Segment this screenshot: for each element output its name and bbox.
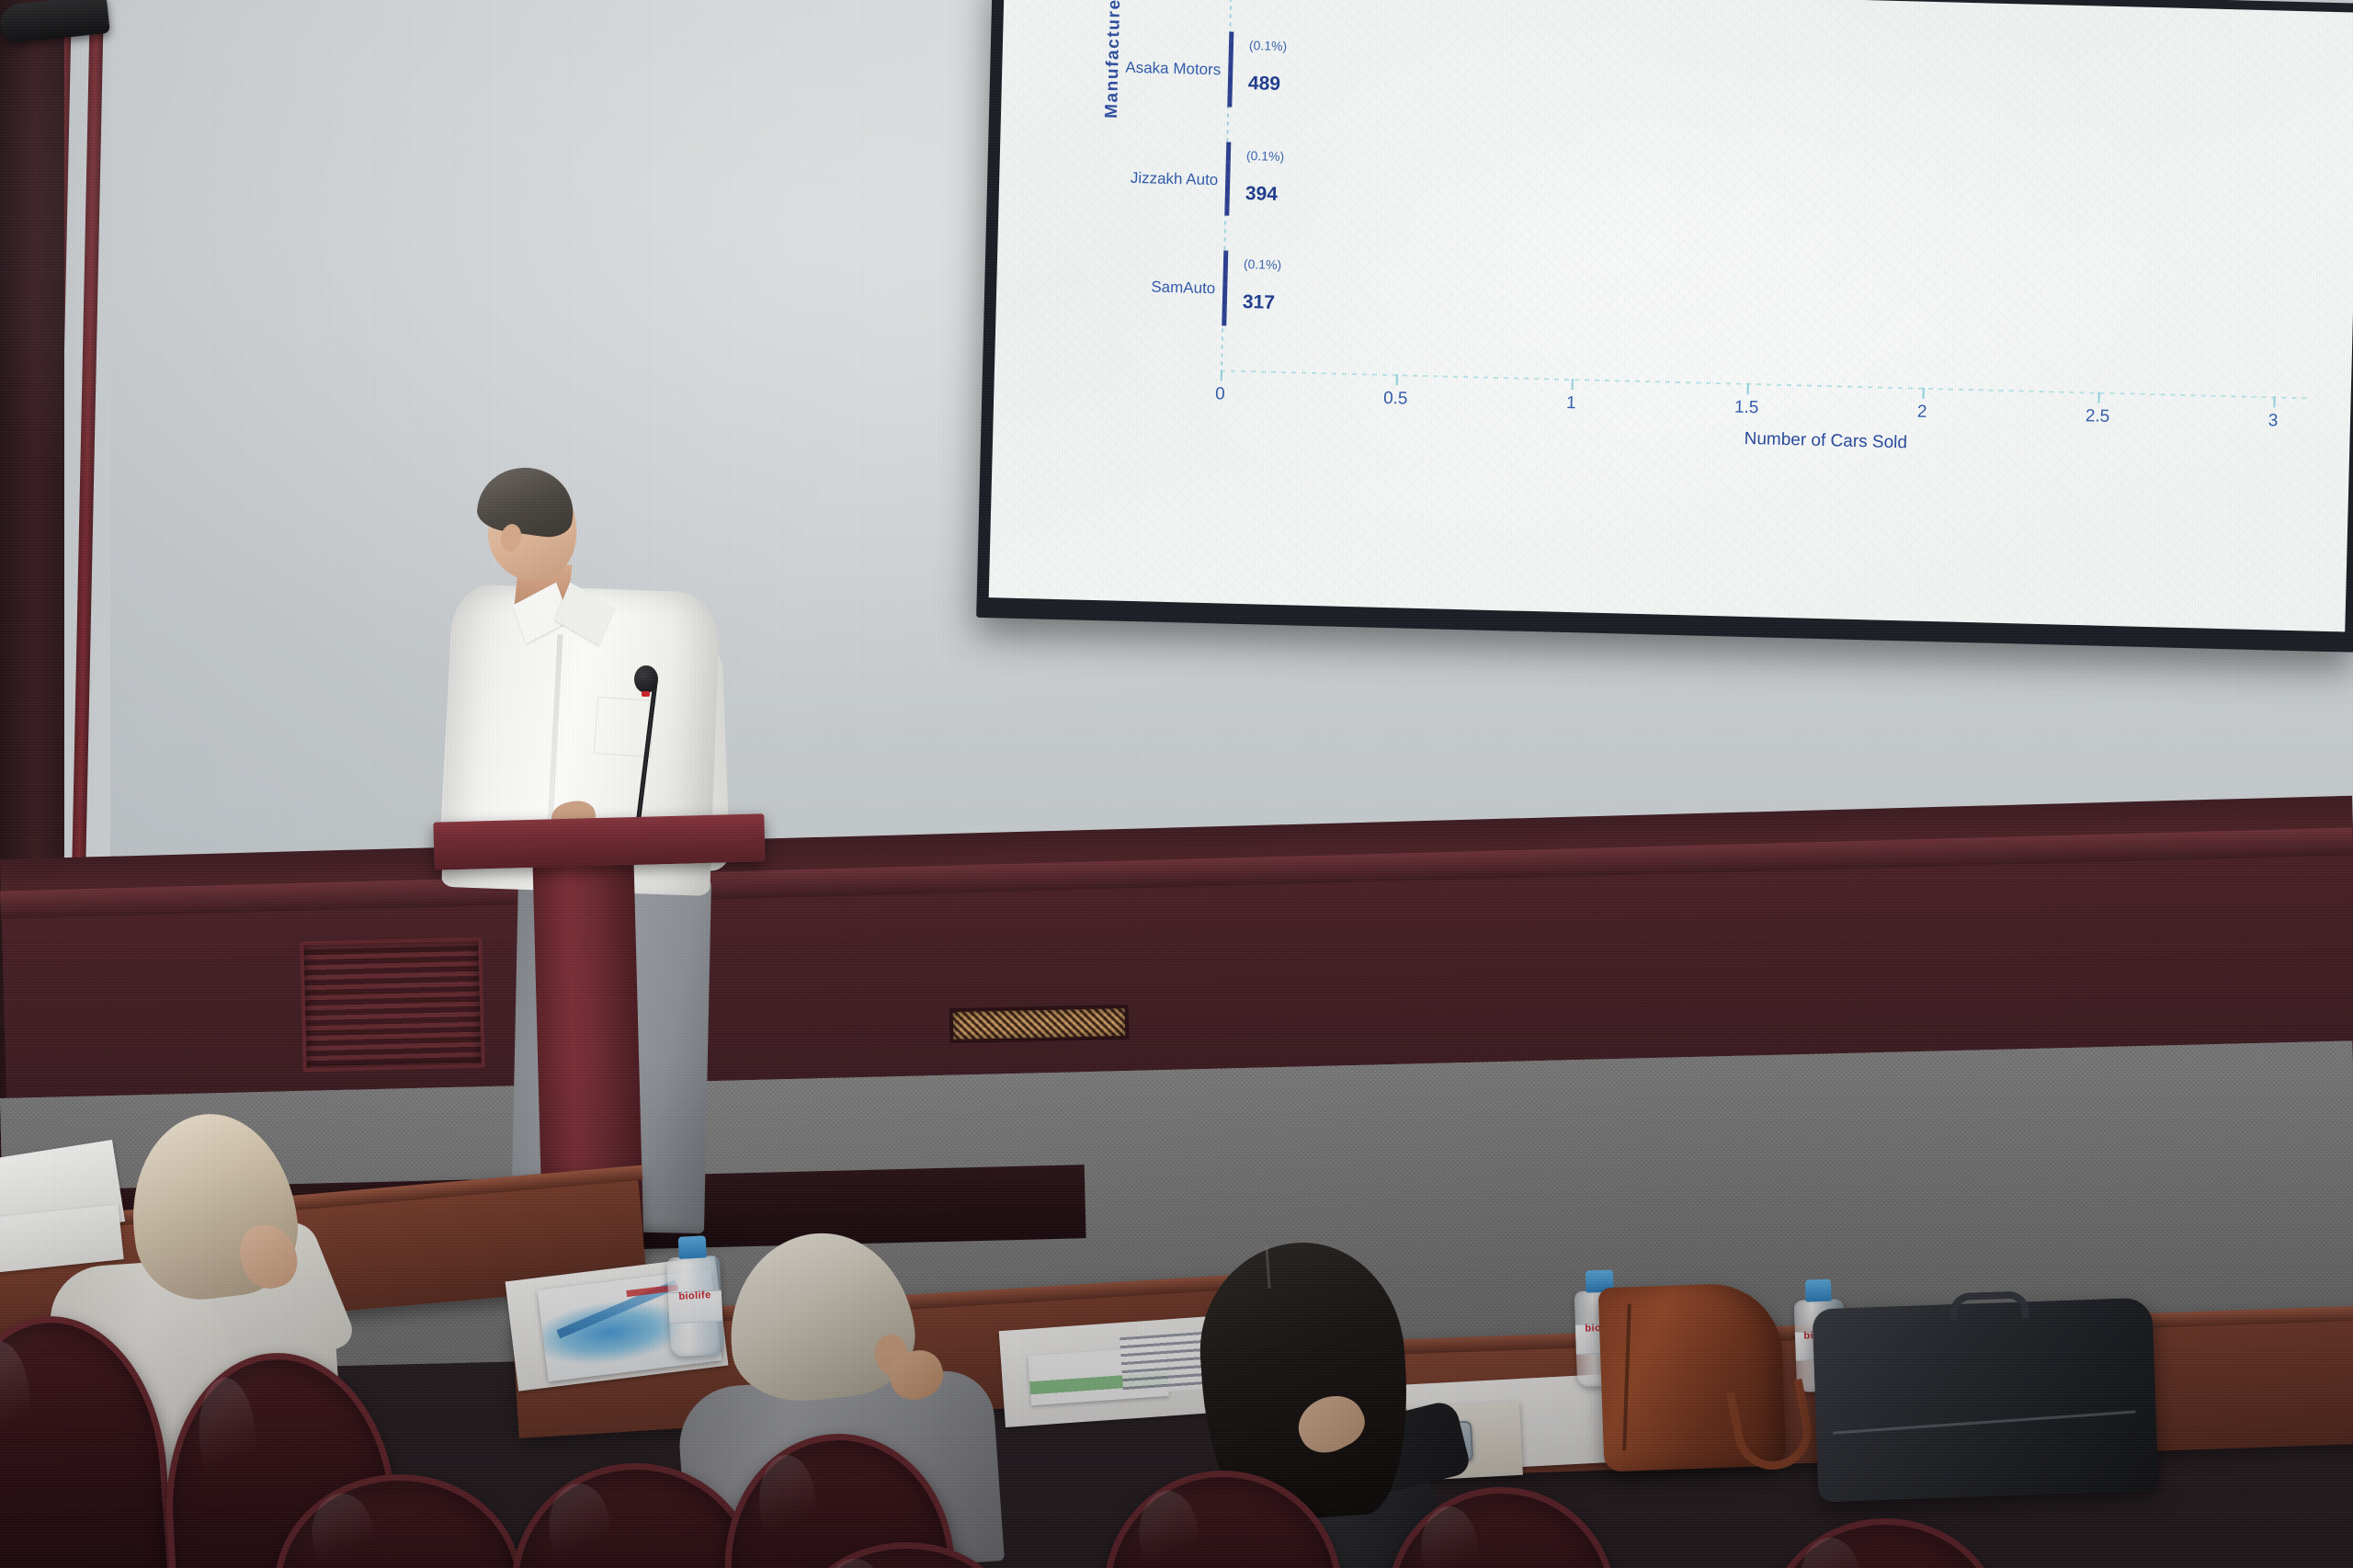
chart-x-tick bbox=[2097, 392, 2099, 403]
chair-highlight bbox=[1420, 1506, 1479, 1568]
projection-screen-surface: Manufacturer BYD Uzbekistan Factory (4.3… bbox=[989, 0, 2353, 631]
chart-bar bbox=[1227, 32, 1233, 108]
chart-percent-label: (0.1%) bbox=[1244, 256, 1282, 272]
chart-x-tick bbox=[1747, 383, 1749, 394]
chart-percent-label: (0.1%) bbox=[1246, 148, 1285, 164]
wall-vent-grille bbox=[300, 937, 484, 1073]
chair-highlight bbox=[1800, 1537, 1861, 1568]
chart-x-tick bbox=[2273, 396, 2275, 407]
water-bottle: biolife bbox=[665, 1235, 725, 1358]
podium-lectern-top bbox=[433, 813, 765, 869]
leather-satchel-bag bbox=[1598, 1282, 1787, 1472]
chart-x-tick bbox=[1396, 374, 1398, 385]
chart-x-tick bbox=[1922, 388, 1924, 399]
black-backpack bbox=[1812, 1298, 2158, 1503]
chair-highlight bbox=[548, 1483, 612, 1568]
chart-bar bbox=[1224, 142, 1231, 215]
chart-x-tick bbox=[1221, 369, 1222, 381]
chart-value-label: 394 bbox=[1245, 183, 1279, 206]
bottle-cap bbox=[1805, 1279, 1832, 1302]
chart-percent-label: (0.1%) bbox=[1249, 38, 1288, 53]
wall-lattice-grille bbox=[949, 1005, 1130, 1043]
chair-highlight bbox=[1138, 1490, 1199, 1568]
chart-category-label: Jizzakh Auto bbox=[989, 159, 1219, 189]
chart-plot-area: BYD Uzbekistan Factory (4.3%) 17303 Asak… bbox=[1219, 0, 2322, 471]
chair-highlight bbox=[757, 1454, 817, 1551]
chart-x-axis-title: Number of Cars Sold bbox=[1744, 429, 1907, 453]
projection-screen-frame: Manufacturer BYD Uzbekistan Factory (4.3… bbox=[976, 0, 2353, 653]
chart-x-tick bbox=[1572, 379, 1574, 390]
conference-room-photo: Manufacturer BYD Uzbekistan Factory (4.3… bbox=[0, 0, 2353, 1568]
microphone-icon bbox=[634, 665, 658, 693]
backpack-handle bbox=[1949, 1290, 2029, 1321]
chair-highlight bbox=[197, 1377, 259, 1495]
chair-highlight bbox=[311, 1493, 375, 1568]
backpack-zipper bbox=[1833, 1411, 2135, 1435]
chart-x-tick-label: 2.5 bbox=[2086, 406, 2110, 427]
projected-bar-chart: Manufacturer BYD Uzbekistan Factory (4.3… bbox=[989, 0, 2353, 631]
auditorium-chair bbox=[1761, 1515, 2006, 1568]
chart-x-tick-label: 0 bbox=[1215, 384, 1225, 404]
chart-x-tick-label: 1.5 bbox=[1734, 398, 1759, 419]
microphone-led-indicator bbox=[642, 691, 650, 697]
bottle-cap bbox=[678, 1235, 707, 1259]
chart-x-tick-label: 3 bbox=[2268, 411, 2278, 431]
chart-value-label: 317 bbox=[1243, 291, 1276, 314]
chart-x-tick-label: 2 bbox=[1917, 403, 1927, 423]
chart-bar bbox=[1222, 250, 1228, 325]
chart-x-tick-label: 0.5 bbox=[1383, 389, 1408, 410]
chair-highlight bbox=[0, 1340, 34, 1460]
chart-category-label: SamAuto bbox=[989, 267, 1216, 298]
chart-value-label: 489 bbox=[1248, 73, 1281, 96]
bag-flap-seam bbox=[1622, 1303, 1631, 1450]
chart-x-tick-label: 1 bbox=[1566, 393, 1576, 414]
